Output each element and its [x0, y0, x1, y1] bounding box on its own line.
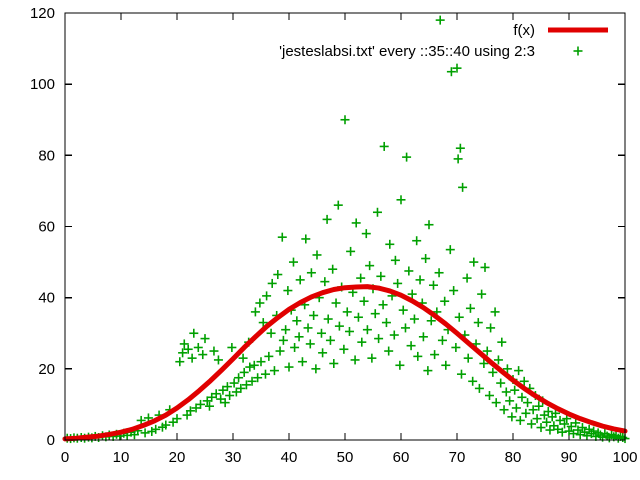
y-tick-label: 20 — [38, 361, 55, 378]
legend-label: 'jesteslabsi.txt' every ::35::40 using 2… — [279, 43, 535, 60]
legend-label: f(x) — [513, 22, 535, 39]
y-tick-label: 40 — [38, 290, 55, 307]
x-tick-label: 80 — [505, 449, 522, 466]
x-tick-label: 100 — [612, 449, 637, 466]
y-tick-label: 80 — [38, 147, 55, 164]
x-tick-label: 90 — [561, 449, 578, 466]
x-tick-label: 40 — [281, 449, 298, 466]
y-tick-label: 0 — [47, 432, 55, 449]
x-tick-label: 70 — [449, 449, 466, 466]
x-tick-label: 50 — [337, 449, 354, 466]
chart-background — [0, 0, 640, 480]
y-tick-label: 120 — [30, 5, 55, 22]
x-tick-label: 10 — [113, 449, 130, 466]
x-tick-label: 20 — [169, 449, 186, 466]
plot-canvas: 020406080100120 0102030405060708090100 f… — [0, 0, 640, 480]
y-tick-label: 60 — [38, 219, 55, 236]
gnuplot-chart: 020406080100120 0102030405060708090100 f… — [0, 0, 640, 480]
x-tick-label: 0 — [61, 449, 69, 466]
x-tick-label: 30 — [225, 449, 242, 466]
x-tick-label: 60 — [393, 449, 410, 466]
y-tick-label: 100 — [30, 76, 55, 93]
